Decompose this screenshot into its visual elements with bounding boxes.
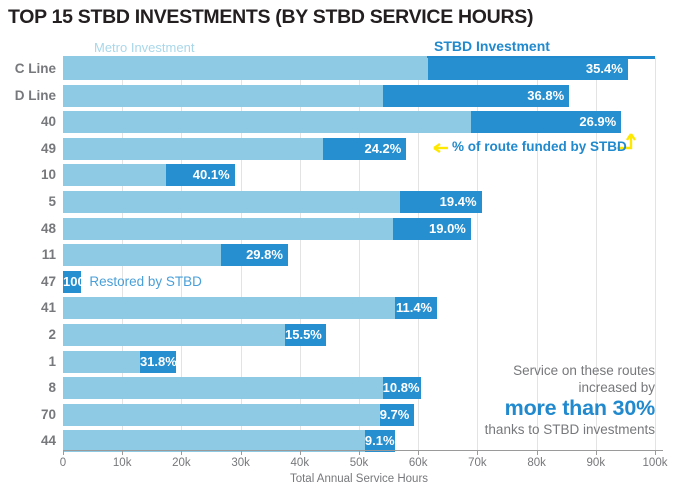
x-tick: [241, 450, 242, 455]
note-line-2: increased by: [425, 379, 655, 396]
bar-percent-label: 35.4%: [428, 58, 628, 80]
bar-percent-label: 11.4%: [395, 297, 438, 319]
x-axis-title: Total Annual Service Hours: [63, 473, 655, 485]
table-row[interactable]: 36.8%: [0, 85, 688, 107]
legend-stbd-investment: STBD Investment: [434, 38, 550, 54]
bar-percent-label: 29.8%: [221, 244, 288, 266]
bar-segment-metro: [63, 111, 471, 133]
bar-segment-metro: [63, 324, 285, 346]
x-tick: [596, 450, 597, 455]
table-row[interactable]: 100%Restored by STBD: [0, 271, 688, 293]
note-highlight: more than 30%: [425, 396, 655, 421]
bar-segment-metro: [63, 377, 383, 399]
chart-title: TOP 15 STBD INVESTMENTS (BY STBD SERVICE…: [8, 6, 533, 29]
chart-container: TOP 15 STBD INVESTMENTS (BY STBD SERVICE…: [0, 0, 688, 493]
table-row[interactable]: 26.9%: [0, 111, 688, 133]
restored-by-stbd-note: Restored by STBD: [89, 271, 202, 293]
x-tick: [418, 450, 419, 455]
table-row[interactable]: 11.4%: [0, 297, 688, 319]
x-tick-label: 30k: [231, 457, 250, 469]
x-tick-label: 100k: [643, 457, 668, 469]
bar-percent-label: 26.9%: [471, 111, 621, 133]
x-tick-label: 70k: [468, 457, 487, 469]
bar-segment-metro: [63, 58, 428, 80]
bar-percent-label: 10.8%: [383, 377, 421, 399]
bar-percent-label: 31.8%: [140, 351, 176, 373]
x-tick: [477, 450, 478, 455]
bar-segment-metro: [63, 138, 323, 160]
x-tick-label: 0: [60, 457, 66, 469]
bar-segment-metro: [63, 85, 383, 107]
x-tick: [122, 450, 123, 455]
legend-metro-investment: Metro Investment: [94, 40, 194, 55]
x-tick: [359, 450, 360, 455]
bar-percent-label: 24.2%: [323, 138, 406, 160]
x-tick: [300, 450, 301, 455]
bar-percent-label: 36.8%: [383, 85, 569, 107]
x-tick-label: 80k: [527, 457, 546, 469]
x-tick-label: 10k: [113, 457, 132, 469]
bar-segment-metro: [63, 218, 393, 240]
bar-percent-label: 19.0%: [393, 218, 471, 240]
bar-segment-metro: [63, 404, 380, 426]
table-row[interactable]: 29.8%: [0, 244, 688, 266]
bar-segment-metro: [63, 297, 395, 319]
note-line-1: Service on these routes: [425, 362, 655, 379]
x-tick: [537, 450, 538, 455]
table-row[interactable]: 15.5%: [0, 324, 688, 346]
bar-percent-label: 15.5%: [285, 324, 326, 346]
x-tick-label: 20k: [172, 457, 191, 469]
table-row[interactable]: 40.1%: [0, 164, 688, 186]
table-row[interactable]: 19.0%: [0, 218, 688, 240]
bar-percent-label: 9.7%: [380, 404, 414, 426]
table-row[interactable]: 19.4%: [0, 191, 688, 213]
summary-note: Service on these routes increased by mor…: [425, 362, 655, 438]
bar-percent-label: 40.1%: [166, 164, 235, 186]
x-tick-label: 60k: [409, 457, 428, 469]
x-tick: [181, 450, 182, 455]
x-tick-label: 50k: [350, 457, 369, 469]
bar-segment-metro: [63, 164, 166, 186]
x-tick-label: 90k: [587, 457, 606, 469]
bar-segment-metro: [63, 351, 140, 373]
x-tick-label: 40k: [291, 457, 310, 469]
bar-percent-label: 100%: [63, 271, 81, 293]
x-axis-line: [63, 450, 663, 451]
x-tick: [655, 450, 656, 455]
x-tick: [63, 450, 64, 455]
bar-segment-metro: [63, 191, 400, 213]
table-row[interactable]: 35.4%: [0, 58, 688, 80]
bar-percent-label: 19.4%: [400, 191, 481, 213]
callout-label: % of route funded by STBD: [452, 139, 627, 154]
note-line-3: thanks to STBD investments: [425, 421, 655, 438]
bar-segment-metro: [63, 244, 221, 266]
